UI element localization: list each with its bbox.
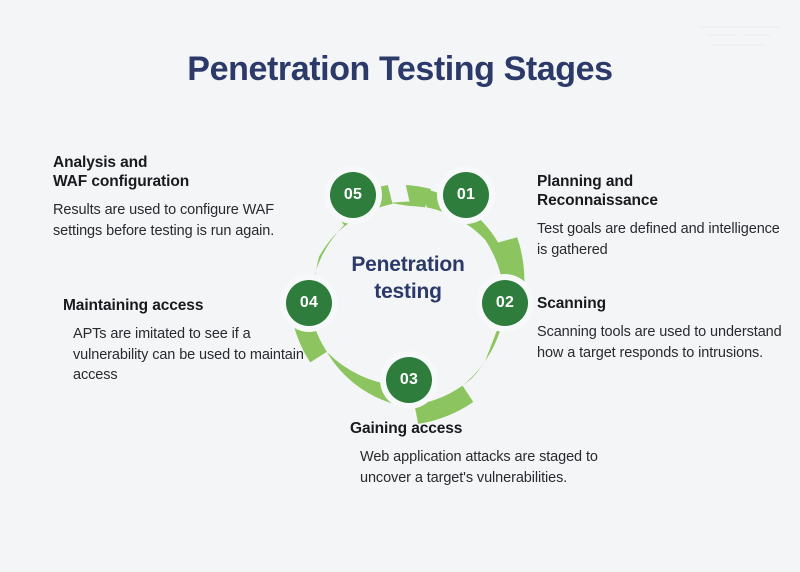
stage-heading-analysis-line2: WAF configuration: [53, 173, 189, 190]
stage-block-planning: Planning and Reconnaissance Test goals a…: [537, 172, 787, 261]
stage-heading-scanning: Scanning: [537, 294, 782, 313]
stage-block-gaining-access: Gaining access Web application attacks a…: [350, 419, 615, 488]
stage-heading-analysis-line1: Analysis and: [53, 154, 147, 171]
step-badge-05[interactable]: 05: [330, 172, 376, 218]
infographic-page: Penetration Testing Stages: [0, 0, 800, 572]
step-badge-01[interactable]: 01: [443, 172, 489, 218]
stage-body-scanning: Scanning tools are used to understand ho…: [537, 322, 782, 363]
stage-block-analysis: Analysis and WAF configuration Results a…: [53, 153, 308, 242]
stage-block-maintaining-access: Maintaining access APTs are imitated to …: [63, 296, 318, 386]
step-badge-02[interactable]: 02: [482, 280, 528, 326]
stage-heading-planning-line2: Reconnaissance: [537, 192, 658, 209]
stage-body-planning: Test goals are defined and intelligence …: [537, 219, 787, 260]
stage-heading-maintaining-access: Maintaining access: [63, 296, 318, 315]
stage-heading-planning-line1: Planning and: [537, 173, 633, 190]
wheel-arrow-segment-5: [390, 185, 431, 207]
stage-heading-planning: Planning and Reconnaissance: [537, 172, 787, 210]
stage-heading-gaining-access: Gaining access: [350, 419, 615, 438]
stage-heading-analysis: Analysis and WAF configuration: [53, 153, 308, 191]
stage-body-analysis: Results are used to configure WAF settin…: [53, 200, 308, 241]
page-title: Penetration Testing Stages: [0, 50, 800, 89]
stage-body-maintaining-access: APTs are imitated to see if a vulnerabil…: [73, 324, 318, 386]
step-badge-03[interactable]: 03: [386, 357, 432, 403]
stage-block-scanning: Scanning Scanning tools are used to unde…: [537, 294, 782, 363]
watermark: [696, 22, 782, 54]
stage-body-gaining-access: Web application attacks are staged to un…: [360, 447, 615, 488]
